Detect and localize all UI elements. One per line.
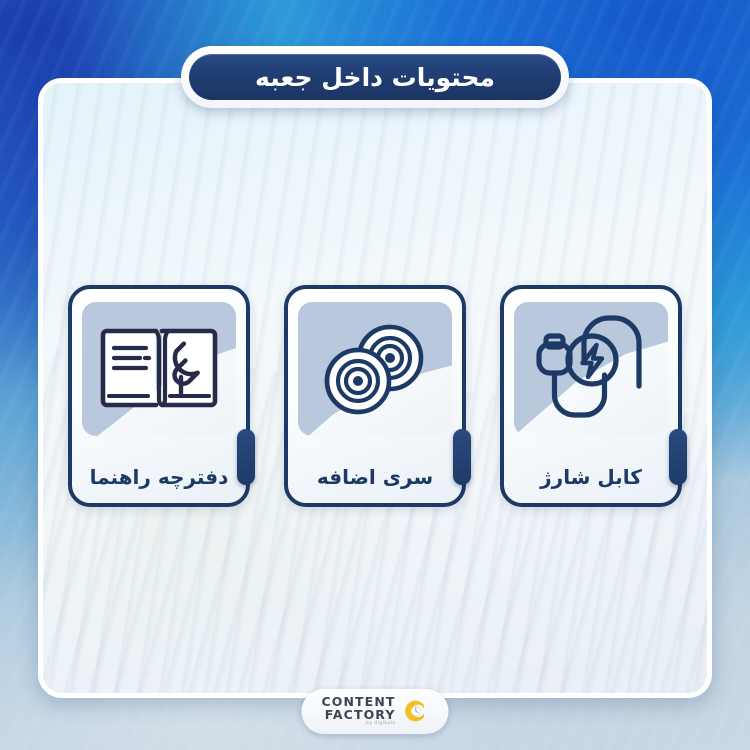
logo-wordmark: CONTENT FACTORY by digikala — [321, 696, 395, 727]
page-title: محتویات داخل جعبه — [255, 65, 495, 90]
card-tab-charging-cable — [669, 429, 687, 485]
card-label-user-manual: دفترچه راهنما — [90, 467, 229, 487]
header-title-pill: محتویات داخل جعبه — [181, 46, 569, 108]
content-panel: کابل شارژ — [38, 78, 712, 698]
card-label-charging-cable: کابل شارژ — [540, 467, 642, 487]
eartip-front — [327, 350, 389, 412]
icon-tile-charging-cable — [514, 302, 668, 436]
pill-outer-ring: محتویات داخل جعبه — [181, 46, 569, 108]
charging-cable-icon — [529, 313, 653, 425]
card-user-manual[interactable]: دفترچه راهنما — [68, 285, 250, 507]
card-label-extra-eartips: سری اضافه — [317, 467, 433, 487]
logo-pill[interactable]: CONTENT FACTORY by digikala — [301, 689, 448, 734]
card-charging-cable[interactable]: کابل شارژ — [500, 285, 682, 507]
box-contents-card-row: کابل شارژ — [43, 285, 707, 507]
card-extra-eartips[interactable]: سری اضافه — [284, 285, 466, 507]
extra-eartips-icon — [314, 315, 436, 423]
logo-line-2: FACTORY — [321, 709, 395, 722]
icon-tile-user-manual — [82, 302, 236, 436]
card-tab-user-manual — [237, 429, 255, 485]
footer-logo[interactable]: CONTENT FACTORY by digikala — [301, 689, 448, 734]
infographic-canvas: کابل شارژ — [0, 0, 750, 750]
pill-inner: محتویات داخل جعبه — [189, 54, 561, 100]
logo-subtext: by digikala — [321, 722, 395, 727]
icon-tile-extra-eartips — [298, 302, 452, 436]
card-tab-extra-eartips — [453, 429, 471, 485]
content-factory-c-logo — [403, 698, 429, 724]
user-manual-icon — [96, 317, 222, 421]
